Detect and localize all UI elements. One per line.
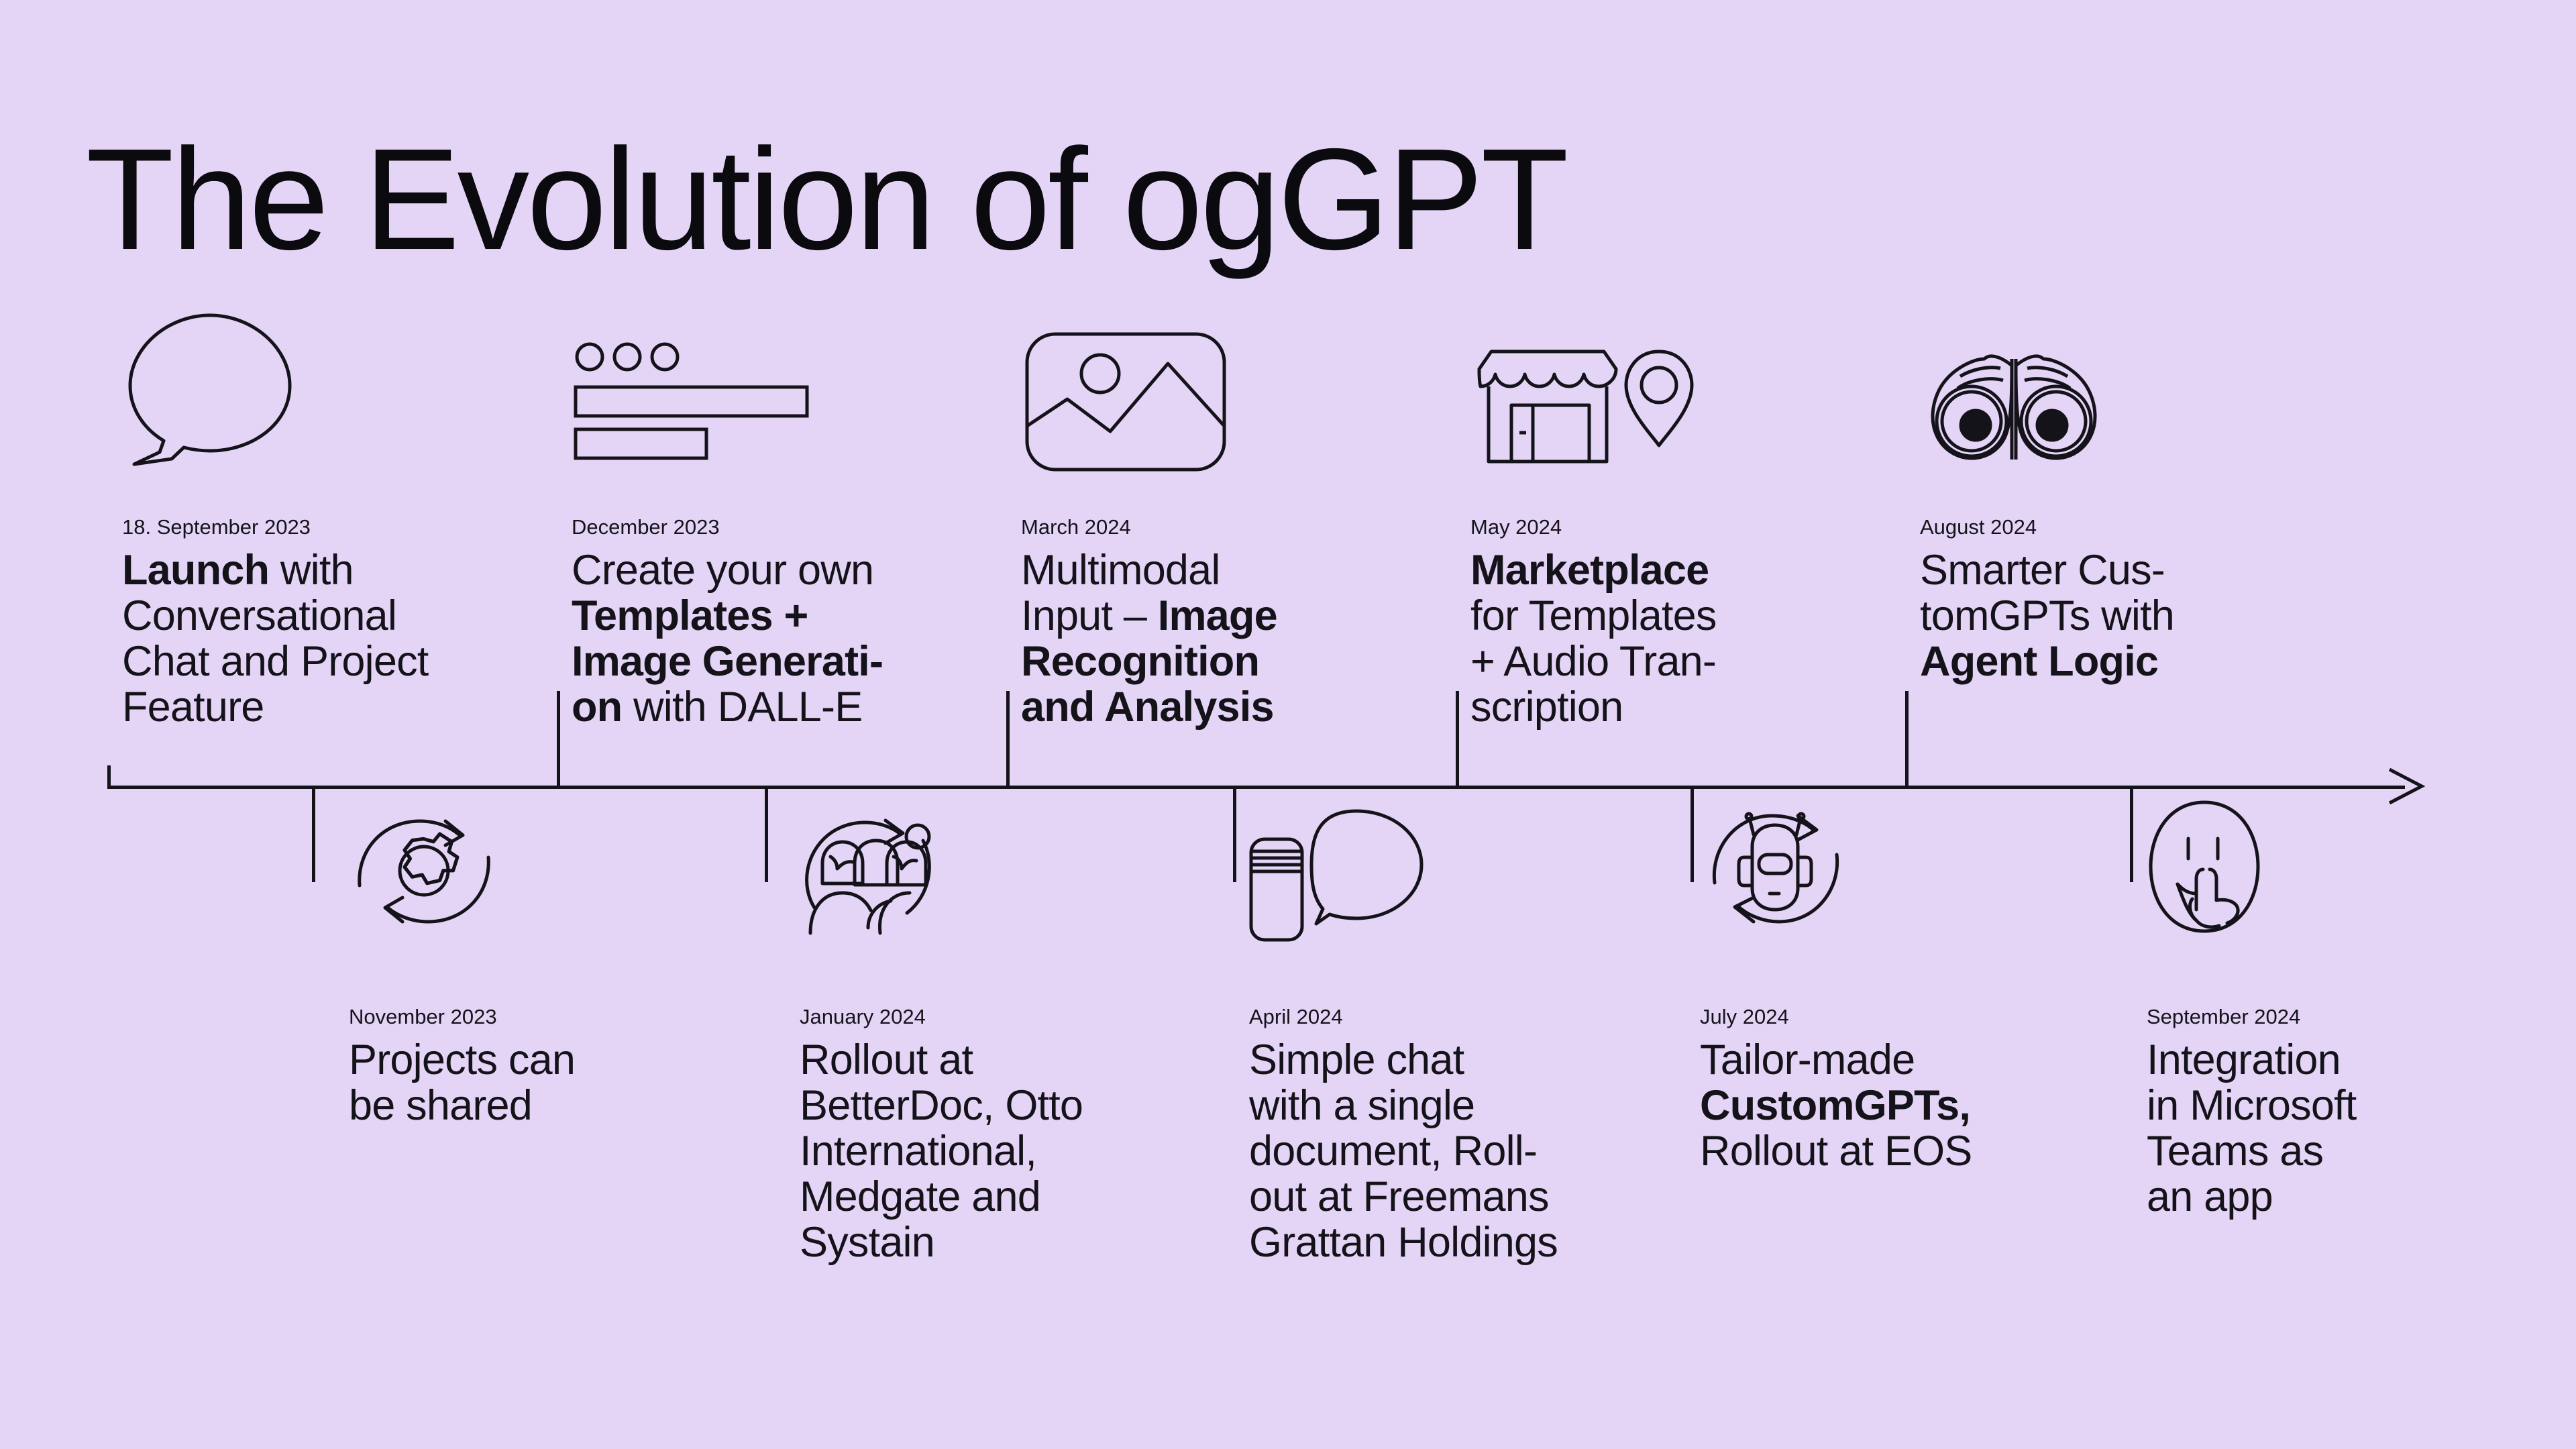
tick-sep-5 — [1905, 691, 1909, 788]
tick-sep-9 — [1690, 786, 1694, 882]
entry-date: May 2024 — [1470, 515, 1886, 539]
entry-line-4-bold: on — [572, 684, 622, 731]
entry-line-1: Integration — [2147, 1036, 2341, 1083]
timeline-axis — [107, 786, 2405, 789]
tick-sep-4 — [1456, 691, 1459, 788]
tick-sep-1 — [107, 765, 111, 788]
timeline-entry-bottom-2: January 2024 Rollout at BetterDoc, Otto … — [800, 1005, 1216, 1265]
entry-line-2: for Templates — [1470, 592, 1717, 639]
tick-sep-7 — [765, 786, 768, 882]
entry-date: April 2024 — [1249, 1005, 1678, 1029]
tick-sep-10 — [2130, 786, 2133, 882]
infographic-canvas: The Evolution of ogGPT — [0, 0, 2576, 1449]
entry-date: January 2024 — [800, 1005, 1216, 1029]
entry-line-3: + Audio Tran- — [1470, 638, 1716, 685]
entry-line-3: Chat and Project — [122, 638, 428, 685]
image-picture-icon — [1025, 332, 1226, 472]
entry-line-3: International, — [800, 1128, 1036, 1175]
page-title: The Evolution of ogGPT — [86, 123, 1566, 275]
entry-headline: Create your own Templates + Image Genera… — [572, 547, 1001, 730]
entry-line-2: with a single — [1249, 1082, 1474, 1129]
entry-line-1: Projects can — [349, 1036, 575, 1083]
entry-headline: Rollout at BetterDoc, Otto International… — [800, 1037, 1216, 1265]
entry-line-4: out at Freemans — [1249, 1173, 1549, 1220]
entry-line-2: tomGPTs with — [1920, 592, 2174, 639]
entry-headline: Launch with Conversational Chat and Proj… — [122, 547, 551, 730]
entry-line-1: Simple chat — [1249, 1036, 1464, 1083]
tick-sep-6 — [312, 786, 315, 882]
gear-refresh-icon — [350, 804, 498, 938]
entry-line-2: be shared — [349, 1082, 532, 1129]
speech-bubble-icon — [119, 310, 301, 471]
entry-line-3: Teams as — [2147, 1128, 2323, 1175]
timeline-entry-top-2: December 2023 Create your own Templates … — [572, 515, 1001, 730]
timeline-arrow-icon — [2388, 768, 2428, 807]
tick-sep-2 — [557, 691, 560, 788]
entry-line-bold: Launch — [122, 547, 269, 594]
timeline-entry-top-5: August 2024 Smarter Cus- tomGPTs with Ag… — [1920, 515, 2336, 684]
entry-date: November 2023 — [349, 1005, 751, 1029]
timeline-entry-top-3: March 2024 Multimodal Input – Image Reco… — [1021, 515, 1437, 730]
entry-line-3: Image Generati- — [572, 638, 883, 685]
entry-line-1: Create your own — [572, 547, 873, 594]
entry-line-4: Feature — [122, 684, 264, 731]
entry-line-rest: with — [269, 547, 354, 594]
timeline-entry-top-4: May 2024 Marketplace for Templates + Aud… — [1470, 515, 1886, 730]
entry-line-2: CustomGPTs, — [1700, 1082, 1970, 1129]
entry-headline: Tailor-made CustomGPTs, Rollout at EOS — [1700, 1037, 2116, 1174]
timeline-entry-bottom-3: April 2024 Simple chat with a single doc… — [1249, 1005, 1678, 1265]
entry-line-4: and Analysis — [1021, 684, 1274, 731]
entry-line-5: Grattan Holdings — [1249, 1219, 1558, 1266]
entry-line-3: Rollout at EOS — [1700, 1128, 1972, 1175]
entry-headline: Smarter Cus- tomGPTs with Agent Logic — [1920, 547, 2336, 684]
entry-line-2: in Microsoft — [2147, 1082, 2356, 1129]
entry-date: August 2024 — [1920, 515, 2336, 539]
entry-line-2: BetterDoc, Otto — [800, 1082, 1083, 1129]
timeline-entry-bottom-5: September 2024 Integration in Microsoft … — [2147, 1005, 2549, 1220]
entry-date: September 2024 — [2147, 1005, 2549, 1029]
entry-line-2-bold: Image — [1158, 592, 1277, 639]
timeline-entry-bottom-4: July 2024 Tailor-made CustomGPTs, Rollou… — [1700, 1005, 2116, 1174]
entry-headline: Simple chat with a single document, Roll… — [1249, 1037, 1678, 1265]
entry-line-3: Agent Logic — [1920, 638, 2158, 685]
timeline-entry-top-1: 18. September 2023 Launch with Conversat… — [122, 515, 551, 730]
entry-line-4: an app — [2147, 1173, 2273, 1220]
templates-layout-icon — [574, 343, 822, 451]
entry-date: 18. September 2023 — [122, 515, 551, 539]
entry-headline: Marketplace for Templates + Audio Tran- … — [1470, 547, 1886, 730]
tick-sep-8 — [1233, 786, 1236, 882]
binoculars-eyes-icon — [1920, 332, 2108, 466]
entry-line-1: Marketplace — [1470, 547, 1709, 594]
entry-date: December 2023 — [572, 515, 1001, 539]
entry-line-4: Medgate and — [800, 1173, 1040, 1220]
entry-line-2-rest: Input – — [1021, 592, 1158, 639]
timeline-entry-bottom-1: November 2023 Projects can be shared — [349, 1005, 751, 1128]
entry-line-1: Multimodal — [1021, 547, 1220, 594]
entry-headline: Multimodal Input – Image Recognition and… — [1021, 547, 1437, 730]
entry-date: July 2024 — [1700, 1005, 2116, 1029]
entry-line-2: Conversational — [122, 592, 396, 639]
storefront-location-pin-icon — [1472, 330, 1694, 471]
entry-date: March 2024 — [1021, 515, 1437, 539]
entry-line-1: Tailor-made — [1700, 1036, 1915, 1083]
entry-line-4-rest: with DALL-E — [622, 684, 862, 731]
tick-sep-3 — [1006, 691, 1010, 788]
entry-line-1: Rollout at — [800, 1036, 973, 1083]
entry-headline: Integration in Microsoft Teams as an app — [2147, 1037, 2549, 1220]
face-shh-finger-icon — [2144, 800, 2265, 937]
document-speech-bubble-icon — [1249, 808, 1424, 943]
entry-line-1: Smarter Cus- — [1920, 547, 2165, 594]
people-group-refresh-icon — [798, 802, 939, 936]
robot-head-refresh-icon — [1705, 800, 1846, 937]
entry-line-4: scription — [1470, 684, 1623, 731]
entry-line-3: Recognition — [1021, 638, 1259, 685]
entry-headline: Projects can be shared — [349, 1037, 751, 1128]
entry-line-2: Templates + — [572, 592, 808, 639]
entry-line-3: document, Roll- — [1249, 1128, 1537, 1175]
entry-line-5: Systain — [800, 1219, 934, 1266]
